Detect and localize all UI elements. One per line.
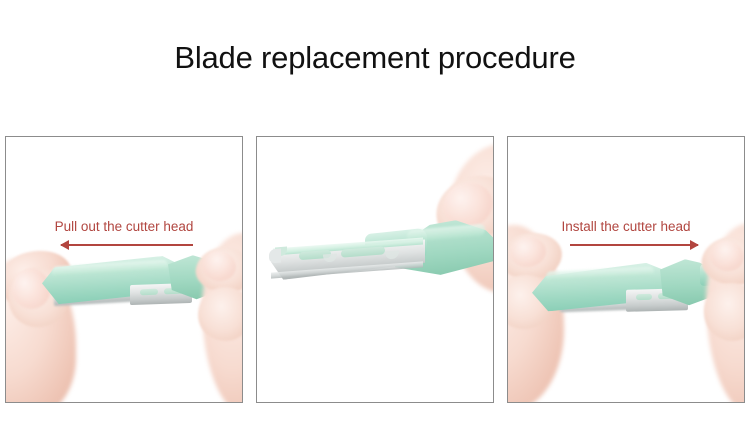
arrow-left-icon bbox=[61, 239, 193, 251]
blade-slot-1 bbox=[140, 289, 158, 296]
panel-install[interactable]: Install the cutter head bbox=[507, 136, 745, 403]
arrow-right-icon bbox=[570, 239, 698, 251]
panel-strip: Pull out the cutter head bbox=[5, 136, 745, 403]
panel-pull-out[interactable]: Pull out the cutter head bbox=[5, 136, 243, 403]
arrow-shaft bbox=[61, 244, 193, 246]
arrow-head bbox=[690, 240, 699, 250]
blade-slot-1 bbox=[636, 294, 652, 300]
arrow-head bbox=[60, 240, 69, 250]
blade-tip-hook bbox=[269, 249, 281, 264]
caption-pull-out: Pull out the cutter head bbox=[6, 218, 242, 236]
arrow-shaft bbox=[570, 244, 698, 246]
caption-install: Install the cutter head bbox=[508, 218, 744, 236]
page-title: Blade replacement procedure bbox=[0, 38, 750, 78]
panel-blade-detail[interactable] bbox=[256, 136, 494, 403]
